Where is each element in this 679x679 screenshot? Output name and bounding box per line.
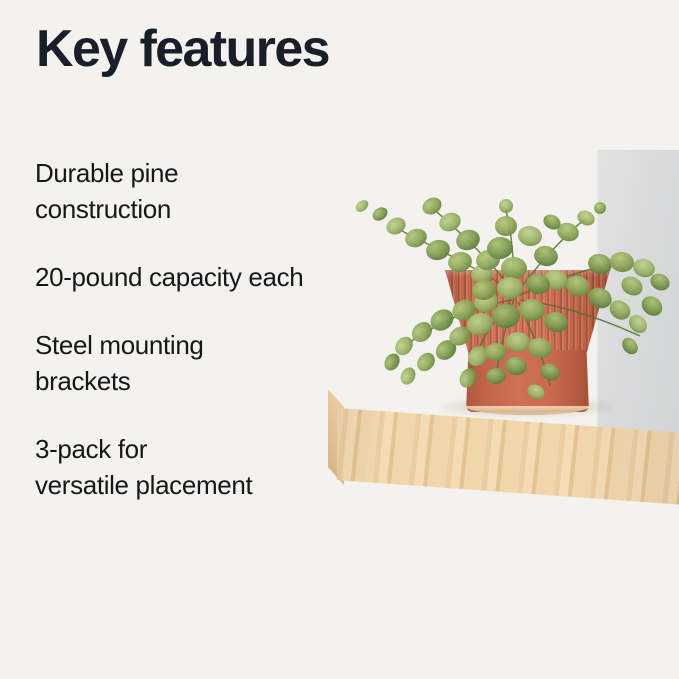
pot-smooth-base [466, 350, 589, 412]
pot-rim [445, 270, 610, 277]
product-photo [300, 110, 679, 540]
text-column: Key features [36, 22, 366, 77]
infographic-canvas: Key features Durable pine construction 2… [0, 0, 679, 679]
pot-foot [465, 406, 590, 415]
page-title: Key features [36, 22, 366, 77]
fluted-planter-pot [445, 270, 610, 415]
pot-fluted-section [445, 270, 610, 352]
